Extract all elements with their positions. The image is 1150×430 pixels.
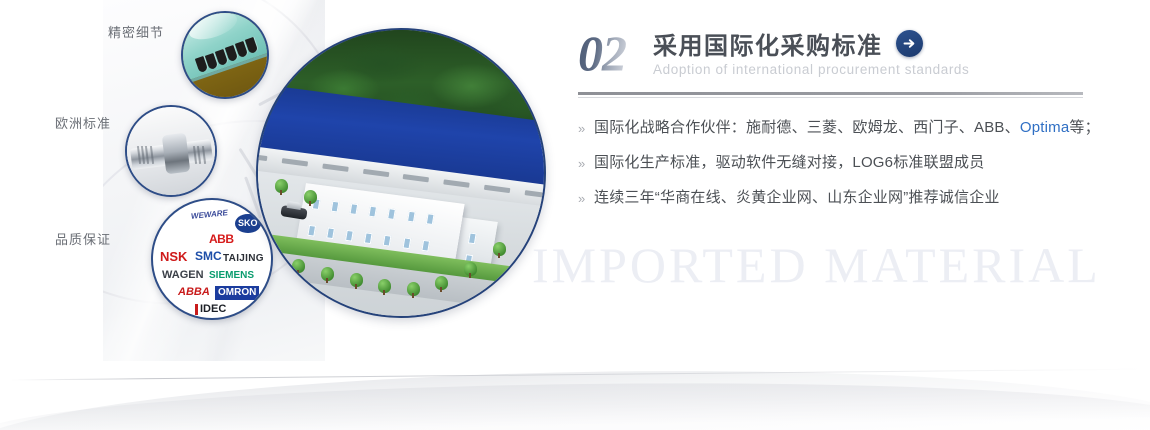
section-subtitle: Adoption of international procurement st… bbox=[653, 62, 969, 77]
divider-thick bbox=[578, 92, 1083, 95]
logo-nsk: NSK bbox=[160, 250, 187, 263]
list-item-text-after: 等； bbox=[1069, 119, 1099, 136]
list-item-highlight[interactable]: Optima bbox=[1020, 119, 1070, 136]
caption-quality-assurance: 品质保证 bbox=[55, 229, 111, 248]
chevron-bullet-icon: » bbox=[578, 118, 594, 139]
chevron-bullet-icon: » bbox=[578, 153, 594, 174]
logo-wagen: WAGEN bbox=[162, 270, 204, 281]
logo-abba: ABBA bbox=[178, 287, 210, 298]
list-item-text: 连续三年“华商在线、炎黄企业网、山东企业网”推荐诚信企业 bbox=[594, 188, 1000, 208]
logo-abb: ABB bbox=[209, 233, 234, 245]
list-item-text: 国际化战略合作伙伴：施耐德、三菱、欧姆龙、西门子、ABB、Optima等； bbox=[594, 118, 1100, 138]
ball-screw-photo bbox=[125, 105, 217, 197]
logo-omron: OMRON bbox=[215, 286, 259, 300]
arrow-right-icon[interactable] bbox=[896, 30, 923, 57]
list-item-text: 国际化生产标准，驱动软件无缝对接，LOG6标准联盟成员 bbox=[594, 153, 984, 173]
brand-logos-collage: WEWARE SKO ABB NSK SMC TAIJING WAGEN SIE… bbox=[151, 198, 273, 320]
list-item-text-before: 国际化战略合作伙伴：施耐德、三菱、欧姆龙、西门子、ABB、 bbox=[594, 119, 1020, 136]
caption-european-standard: 欧洲标准 bbox=[55, 113, 111, 132]
divider-thin bbox=[578, 97, 1083, 98]
list-item: » 连续三年“华商在线、炎黄企业网、山东企业网”推荐诚信企业 bbox=[578, 188, 1098, 209]
promo-banner: WEWARE SKO ABB NSK SMC TAIJING WAGEN SIE… bbox=[0, 0, 1150, 430]
content-column: 02 采用国际化采购标准 Adoption of international p… bbox=[578, 0, 1098, 430]
list-item: » 国际化战略合作伙伴：施耐德、三菱、欧姆龙、西门子、ABB、Optima等； bbox=[578, 118, 1098, 139]
caption-precision-detail: 精密细节 bbox=[108, 22, 164, 41]
section-title-row: 采用国际化采购标准 bbox=[653, 26, 923, 61]
chevron-bullet-icon: » bbox=[578, 188, 594, 209]
gear-detail-photo bbox=[181, 11, 269, 99]
bullet-list: » 国际化战略合作伙伴：施耐德、三菱、欧姆龙、西门子、ABB、Optima等； … bbox=[578, 118, 1098, 223]
logo-weware: WEWARE bbox=[191, 209, 229, 221]
list-item: » 国际化生产标准，驱动软件无缝对接，LOG6标准联盟成员 bbox=[578, 153, 1098, 174]
logo-sko: SKO bbox=[235, 214, 261, 233]
logo-smc: SMC bbox=[195, 250, 222, 262]
factory-aerial-photo bbox=[256, 28, 546, 318]
page-title: 采用国际化采购标准 bbox=[653, 26, 883, 61]
section-number: 02 bbox=[578, 24, 626, 82]
logo-siemens: SIEMENS bbox=[209, 271, 254, 281]
logo-idec: IDEC bbox=[195, 304, 226, 315]
